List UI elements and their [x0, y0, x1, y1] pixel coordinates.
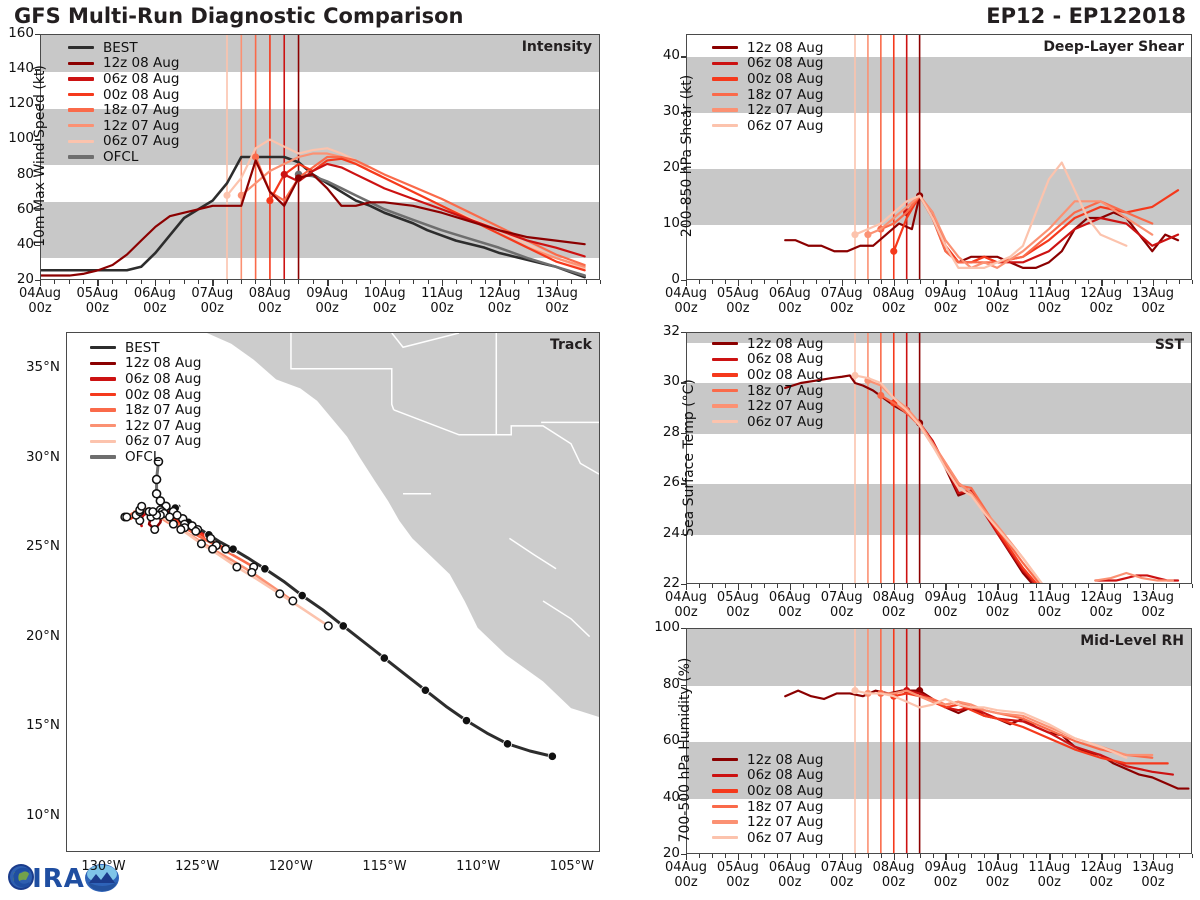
- track-x-tick-label: 120°W: [256, 859, 326, 874]
- x-tick-mark: [790, 280, 791, 286]
- y-tick-mark: [681, 382, 686, 383]
- ofcl-track-point: [153, 490, 161, 498]
- model-track-point: [209, 545, 217, 553]
- model-track-point: [248, 569, 256, 577]
- legend-label: 18z 07 Aug: [103, 102, 179, 118]
- legend-color-swatch: [712, 124, 738, 127]
- legend-label: 00z 08 Aug: [103, 87, 179, 103]
- x-minor-tick: [169, 280, 170, 284]
- x-minor-tick: [1010, 584, 1011, 588]
- track-x-tick-label: 115°W: [350, 859, 420, 874]
- x-minor-tick: [1088, 280, 1089, 284]
- shear-legend-item: 00z 08 Aug: [712, 71, 823, 87]
- x-tick-mark: [997, 280, 998, 286]
- x-minor-tick: [198, 280, 199, 284]
- legend-label: 06z 07 Aug: [103, 133, 179, 149]
- x-minor-tick: [1179, 280, 1180, 284]
- x-minor-tick: [1140, 854, 1141, 858]
- model-track-point: [149, 508, 157, 516]
- y-tick-label: 120: [0, 95, 34, 111]
- init-marker: [864, 231, 871, 238]
- x-tick-mark: [945, 854, 946, 860]
- series-line: [855, 691, 1126, 758]
- init-marker: [851, 231, 858, 238]
- y-tick-mark: [35, 104, 40, 105]
- x-minor-tick: [356, 280, 357, 284]
- legend-color-swatch: [68, 124, 94, 127]
- x-minor-tick: [777, 280, 778, 284]
- x-minor-tick: [907, 280, 908, 284]
- sst-legend-item: 06z 08 Aug: [712, 352, 823, 368]
- y-tick-label: 32: [642, 323, 680, 339]
- x-minor-tick: [984, 584, 985, 588]
- x-minor-tick: [1036, 854, 1037, 858]
- shear-legend-item: 06z 07 Aug: [712, 118, 823, 134]
- x-tick-mark: [738, 280, 739, 286]
- x-tick-mark: [790, 584, 791, 590]
- y-tick-mark: [681, 483, 686, 484]
- model-track-point: [222, 545, 230, 553]
- track-y-tick-label: 35°N: [4, 359, 60, 375]
- y-tick-mark: [681, 112, 686, 113]
- y-tick-label: 40: [0, 236, 34, 252]
- legend-color-swatch: [90, 362, 116, 365]
- x-minor-tick: [712, 280, 713, 284]
- x-minor-tick: [1127, 584, 1128, 588]
- y-tick-mark: [681, 168, 686, 169]
- x-minor-tick: [803, 854, 804, 858]
- shear-legend-item: 12z 08 Aug: [712, 40, 823, 56]
- x-minor-tick: [1062, 584, 1063, 588]
- x-minor-tick: [751, 584, 752, 588]
- x-minor-tick: [971, 584, 972, 588]
- model-track-point: [289, 597, 297, 605]
- legend-label: 12z 07 Aug: [747, 814, 823, 830]
- rh-legend-item: 00z 08 Aug: [712, 783, 823, 799]
- x-minor-tick: [816, 854, 817, 858]
- y-tick-label: 30: [642, 373, 680, 389]
- x-tick-mark: [894, 584, 895, 590]
- x-minor-tick: [855, 584, 856, 588]
- legend-label: OFCL: [103, 149, 138, 165]
- legend-label: 06z 07 Aug: [747, 830, 823, 846]
- legend-label: 18z 07 Aug: [747, 799, 823, 815]
- x-tick-mark: [945, 584, 946, 590]
- x-minor-tick: [712, 584, 713, 588]
- legend-label: 12z 07 Aug: [747, 398, 823, 414]
- legend-label: 12z 08 Aug: [125, 355, 201, 371]
- y-tick-mark: [35, 139, 40, 140]
- x-minor-tick: [933, 584, 934, 588]
- x-minor-tick: [428, 280, 429, 284]
- north-america-landmass: [207, 333, 599, 717]
- x-minor-tick: [1192, 280, 1193, 284]
- legend-color-swatch: [90, 408, 116, 411]
- x-tick-mark: [1049, 584, 1050, 590]
- x-minor-tick: [1140, 584, 1141, 588]
- best-track-point: [503, 740, 511, 748]
- legend-color-swatch: [712, 836, 738, 839]
- shear-legend: 12z 08 Aug06z 08 Aug00z 08 Aug18z 07 Aug…: [712, 40, 823, 134]
- x-tick-mark: [894, 280, 895, 286]
- x-minor-tick: [907, 584, 908, 588]
- x-tick-mark: [842, 854, 843, 860]
- x-minor-tick: [1088, 584, 1089, 588]
- legend-color-swatch: [712, 820, 738, 823]
- x-minor-tick: [1075, 584, 1076, 588]
- x-minor-tick: [184, 280, 185, 284]
- legend-color-swatch: [712, 404, 738, 407]
- x-minor-tick: [485, 280, 486, 284]
- legend-label: 12z 07 Aug: [747, 102, 823, 118]
- x-minor-tick: [920, 854, 921, 858]
- y-tick-label: 100: [642, 619, 680, 635]
- legend-label: 12z 08 Aug: [103, 55, 179, 71]
- x-minor-tick: [816, 584, 817, 588]
- series-line: [41, 160, 585, 275]
- y-tick-mark: [681, 224, 686, 225]
- x-minor-tick: [816, 280, 817, 284]
- x-tick-mark: [738, 854, 739, 860]
- y-tick-label: 30: [642, 103, 680, 119]
- intensity-legend-item: BEST: [68, 40, 179, 56]
- legend-color-swatch: [712, 342, 738, 345]
- x-tick-label: 11Aug00z: [412, 286, 472, 317]
- page-title: GFS Multi-Run Diagnostic Comparison: [14, 4, 463, 28]
- x-minor-tick: [342, 280, 343, 284]
- y-tick-label: 100: [0, 130, 34, 146]
- series-line: [299, 174, 585, 275]
- sst-legend: 12z 08 Aug06z 08 Aug00z 08 Aug18z 07 Aug…: [712, 336, 823, 430]
- rh-legend-item: 06z 08 Aug: [712, 768, 823, 784]
- x-minor-tick: [855, 280, 856, 284]
- x-tick-label: 05Aug00z: [67, 286, 127, 317]
- y-tick-mark: [681, 433, 686, 434]
- x-minor-tick: [764, 854, 765, 858]
- x-tick-mark: [790, 854, 791, 860]
- legend-label: 18z 07 Aug: [125, 402, 201, 418]
- track-legend-item: 18z 07 Aug: [90, 402, 201, 418]
- x-minor-tick: [803, 584, 804, 588]
- x-tick-mark: [1101, 854, 1102, 860]
- x-minor-tick: [725, 854, 726, 858]
- x-tick-mark: [1049, 280, 1050, 286]
- legend-color-swatch: [712, 46, 738, 49]
- y-tick-label: 60: [0, 201, 34, 217]
- legend-color-swatch: [712, 389, 738, 392]
- x-tick-mark: [40, 280, 41, 286]
- track-x-tick-label: 110°W: [443, 859, 513, 874]
- x-minor-tick: [764, 280, 765, 284]
- legend-label: 12z 08 Aug: [747, 752, 823, 768]
- x-minor-tick: [1062, 854, 1063, 858]
- init-marker: [877, 392, 884, 399]
- legend-color-swatch: [68, 46, 94, 49]
- legend-color-swatch: [90, 424, 116, 427]
- x-minor-tick: [1127, 854, 1128, 858]
- best-track-point: [339, 622, 347, 630]
- x-minor-tick: [1114, 854, 1115, 858]
- x-minor-tick: [413, 280, 414, 284]
- x-minor-tick: [829, 280, 830, 284]
- legend-color-swatch: [68, 62, 94, 65]
- sst-legend-item: 12z 07 Aug: [712, 398, 823, 414]
- legend-label: 18z 07 Aug: [747, 383, 823, 399]
- y-tick-mark: [35, 69, 40, 70]
- x-minor-tick: [881, 854, 882, 858]
- model-track-point: [173, 511, 181, 519]
- y-tick-label: 60: [642, 732, 680, 748]
- series-line: [907, 691, 1173, 775]
- track-legend-item: OFCL: [90, 449, 201, 465]
- legend-label: BEST: [125, 340, 160, 356]
- x-minor-tick: [984, 280, 985, 284]
- init-marker: [295, 174, 302, 181]
- legend-label: 12z 07 Aug: [125, 418, 201, 434]
- legend-color-swatch: [712, 758, 738, 761]
- y-tick-label: 40: [642, 47, 680, 63]
- x-tick-mark: [945, 280, 946, 286]
- x-minor-tick: [1036, 280, 1037, 284]
- y-tick-mark: [35, 210, 40, 211]
- series-line: [868, 381, 1049, 583]
- series-line: [270, 159, 585, 270]
- track-x-tick-label: 125°W: [162, 859, 232, 874]
- x-tick-label: 13Aug00z: [1123, 286, 1183, 317]
- x-minor-tick: [586, 280, 587, 284]
- rh-legend-item: 12z 07 Aug: [712, 814, 823, 830]
- model-track-point: [177, 526, 185, 534]
- x-minor-tick: [881, 584, 882, 588]
- x-tick-mark: [155, 280, 156, 286]
- x-tick-mark: [1153, 280, 1154, 286]
- x-minor-tick: [69, 280, 70, 284]
- x-minor-tick: [855, 854, 856, 858]
- x-minor-tick: [370, 280, 371, 284]
- x-minor-tick: [712, 854, 713, 858]
- x-minor-tick: [984, 854, 985, 858]
- legend-label: 12z 08 Aug: [747, 336, 823, 352]
- legend-label: 06z 08 Aug: [103, 71, 179, 87]
- x-minor-tick: [112, 280, 113, 284]
- init-marker: [851, 687, 858, 694]
- legend-label: 00z 08 Aug: [747, 367, 823, 383]
- legend-label: 06z 07 Aug: [747, 414, 823, 430]
- ofcl-track-point: [153, 475, 161, 483]
- legend-color-swatch: [68, 77, 94, 80]
- x-minor-tick: [571, 280, 572, 284]
- model-track-point: [233, 563, 241, 571]
- x-minor-tick: [751, 854, 752, 858]
- intensity-legend-item: 00z 08 Aug: [68, 87, 179, 103]
- legend-label: 06z 08 Aug: [125, 371, 201, 387]
- x-minor-tick: [699, 584, 700, 588]
- y-tick-mark: [681, 56, 686, 57]
- x-tick-mark: [97, 280, 98, 286]
- rh-legend-item: 12z 08 Aug: [712, 752, 823, 768]
- x-minor-tick: [255, 280, 256, 284]
- legend-color-swatch: [712, 108, 738, 111]
- x-minor-tick: [298, 280, 299, 284]
- x-minor-tick: [313, 280, 314, 284]
- x-minor-tick: [1192, 584, 1193, 588]
- x-minor-tick: [1023, 584, 1024, 588]
- x-minor-tick: [1192, 854, 1193, 858]
- y-tick-label: 26: [642, 474, 680, 490]
- x-minor-tick: [920, 280, 921, 284]
- x-minor-tick: [1036, 584, 1037, 588]
- intensity-legend: BEST12z 08 Aug06z 08 Aug00z 08 Aug18z 07…: [68, 40, 179, 165]
- rh-panel-label: Mid-Level RH: [1080, 633, 1184, 649]
- x-minor-tick: [456, 280, 457, 284]
- x-tick-mark: [894, 854, 895, 860]
- x-tick-label: 06Aug00z: [125, 286, 185, 317]
- x-minor-tick: [971, 854, 972, 858]
- x-tick-label: 07Aug00z: [182, 286, 242, 317]
- legend-color-swatch: [90, 393, 116, 396]
- x-tick-mark: [997, 584, 998, 590]
- x-minor-tick: [1010, 280, 1011, 284]
- init-marker: [281, 171, 288, 178]
- best-track-point: [261, 565, 269, 573]
- x-minor-tick: [868, 280, 869, 284]
- intensity-legend-item: 06z 08 Aug: [68, 71, 179, 87]
- x-minor-tick: [764, 584, 765, 588]
- best-track-point: [421, 686, 429, 694]
- rh-legend-item: 18z 07 Aug: [712, 799, 823, 815]
- x-minor-tick: [1166, 584, 1167, 588]
- track-y-tick-label: 10°N: [4, 807, 60, 823]
- x-minor-tick: [971, 280, 972, 284]
- model-track-point: [198, 540, 206, 548]
- y-tick-label: 140: [0, 60, 34, 76]
- legend-label: 00z 08 Aug: [747, 71, 823, 87]
- x-minor-tick: [933, 280, 934, 284]
- x-minor-tick: [1023, 854, 1024, 858]
- y-tick-mark: [35, 245, 40, 246]
- legend-color-swatch: [712, 805, 738, 808]
- y-tick-label: 80: [0, 166, 34, 182]
- x-minor-tick: [920, 584, 921, 588]
- legend-color-swatch: [68, 108, 94, 111]
- x-tick-label: 09Aug00z: [297, 286, 357, 317]
- init-marker: [223, 192, 230, 199]
- legend-color-swatch: [68, 155, 94, 158]
- x-minor-tick: [1010, 854, 1011, 858]
- y-tick-label: 24: [642, 525, 680, 541]
- track-y-tick-label: 15°N: [4, 717, 60, 733]
- intensity-legend-item: 06z 07 Aug: [68, 134, 179, 150]
- y-tick-label: 10: [642, 215, 680, 231]
- shear-legend-item: 12z 07 Aug: [712, 102, 823, 118]
- y-tick-label: 22: [642, 575, 680, 591]
- x-tick-mark: [686, 280, 687, 286]
- intensity-legend-item: 12z 08 Aug: [68, 56, 179, 72]
- x-minor-tick: [1179, 584, 1180, 588]
- x-tick-mark: [738, 584, 739, 590]
- x-minor-tick: [777, 854, 778, 858]
- model-track-point: [138, 502, 146, 510]
- y-tick-mark: [35, 34, 40, 35]
- best-track-point: [298, 591, 306, 599]
- x-minor-tick: [1166, 280, 1167, 284]
- x-minor-tick: [141, 280, 142, 284]
- sst-legend-item: 00z 08 Aug: [712, 367, 823, 383]
- x-minor-tick: [471, 280, 472, 284]
- intensity-legend-item: 12z 07 Aug: [68, 118, 179, 134]
- x-minor-tick: [725, 280, 726, 284]
- y-tick-label: 20: [642, 159, 680, 175]
- legend-label: 00z 08 Aug: [125, 387, 201, 403]
- x-tick-mark: [997, 854, 998, 860]
- legend-color-swatch: [712, 93, 738, 96]
- x-minor-tick: [803, 280, 804, 284]
- sst-legend-item: 18z 07 Aug: [712, 383, 823, 399]
- legend-color-swatch: [712, 62, 738, 65]
- sst-legend-item: 06z 07 Aug: [712, 414, 823, 430]
- sst-legend-item: 12z 08 Aug: [712, 336, 823, 352]
- intensity-legend-item: OFCL: [68, 149, 179, 165]
- track-y-tick-label: 30°N: [4, 449, 60, 465]
- track-panel-label: Track: [550, 337, 592, 353]
- init-marker: [851, 372, 858, 379]
- x-tick-label: 12Aug00z: [469, 286, 529, 317]
- track-x-tick-label: 130°W: [68, 859, 138, 874]
- x-minor-tick: [1075, 854, 1076, 858]
- x-tick-label: 04Aug00z: [10, 286, 70, 317]
- shear-legend-item: 18z 07 Aug: [712, 87, 823, 103]
- x-tick-mark: [686, 584, 687, 590]
- x-minor-tick: [241, 280, 242, 284]
- x-minor-tick: [958, 280, 959, 284]
- x-tick-label: 13Aug00z: [1123, 590, 1183, 621]
- x-tick-mark: [1101, 280, 1102, 286]
- y-tick-label: 0: [642, 271, 680, 287]
- x-tick-mark: [842, 280, 843, 286]
- x-minor-tick: [958, 584, 959, 588]
- y-tick-label: 20: [642, 845, 680, 861]
- track-y-tick-label: 25°N: [4, 538, 60, 554]
- track-legend-item: 06z 08 Aug: [90, 371, 201, 387]
- x-tick-mark: [212, 280, 213, 286]
- track-legend-item: 00z 08 Aug: [90, 387, 201, 403]
- legend-color-swatch: [712, 77, 738, 80]
- x-minor-tick: [829, 854, 830, 858]
- y-tick-label: 160: [0, 25, 34, 41]
- x-tick-mark: [842, 584, 843, 590]
- model-track-point: [325, 622, 333, 630]
- shear-panel-label: Deep-Layer Shear: [1043, 39, 1184, 55]
- x-minor-tick: [725, 584, 726, 588]
- x-tick-label: 13Aug00z: [527, 286, 587, 317]
- x-minor-tick: [1114, 280, 1115, 284]
- x-minor-tick: [227, 280, 228, 284]
- x-minor-tick: [126, 280, 127, 284]
- x-minor-tick: [1023, 280, 1024, 284]
- x-minor-tick: [528, 280, 529, 284]
- x-tick-label: 13Aug00z: [1123, 860, 1183, 891]
- x-tick-mark: [1101, 584, 1102, 590]
- x-minor-tick: [600, 280, 601, 284]
- legend-label: BEST: [103, 40, 138, 56]
- track-legend-item: 12z 07 Aug: [90, 418, 201, 434]
- legend-label: 18z 07 Aug: [747, 87, 823, 103]
- legend-label: 06z 08 Aug: [747, 351, 823, 367]
- legend-color-swatch: [90, 377, 116, 380]
- x-minor-tick: [1088, 854, 1089, 858]
- track-y-tick-label: 20°N: [4, 628, 60, 644]
- legend-label: 12z 08 Aug: [747, 40, 823, 56]
